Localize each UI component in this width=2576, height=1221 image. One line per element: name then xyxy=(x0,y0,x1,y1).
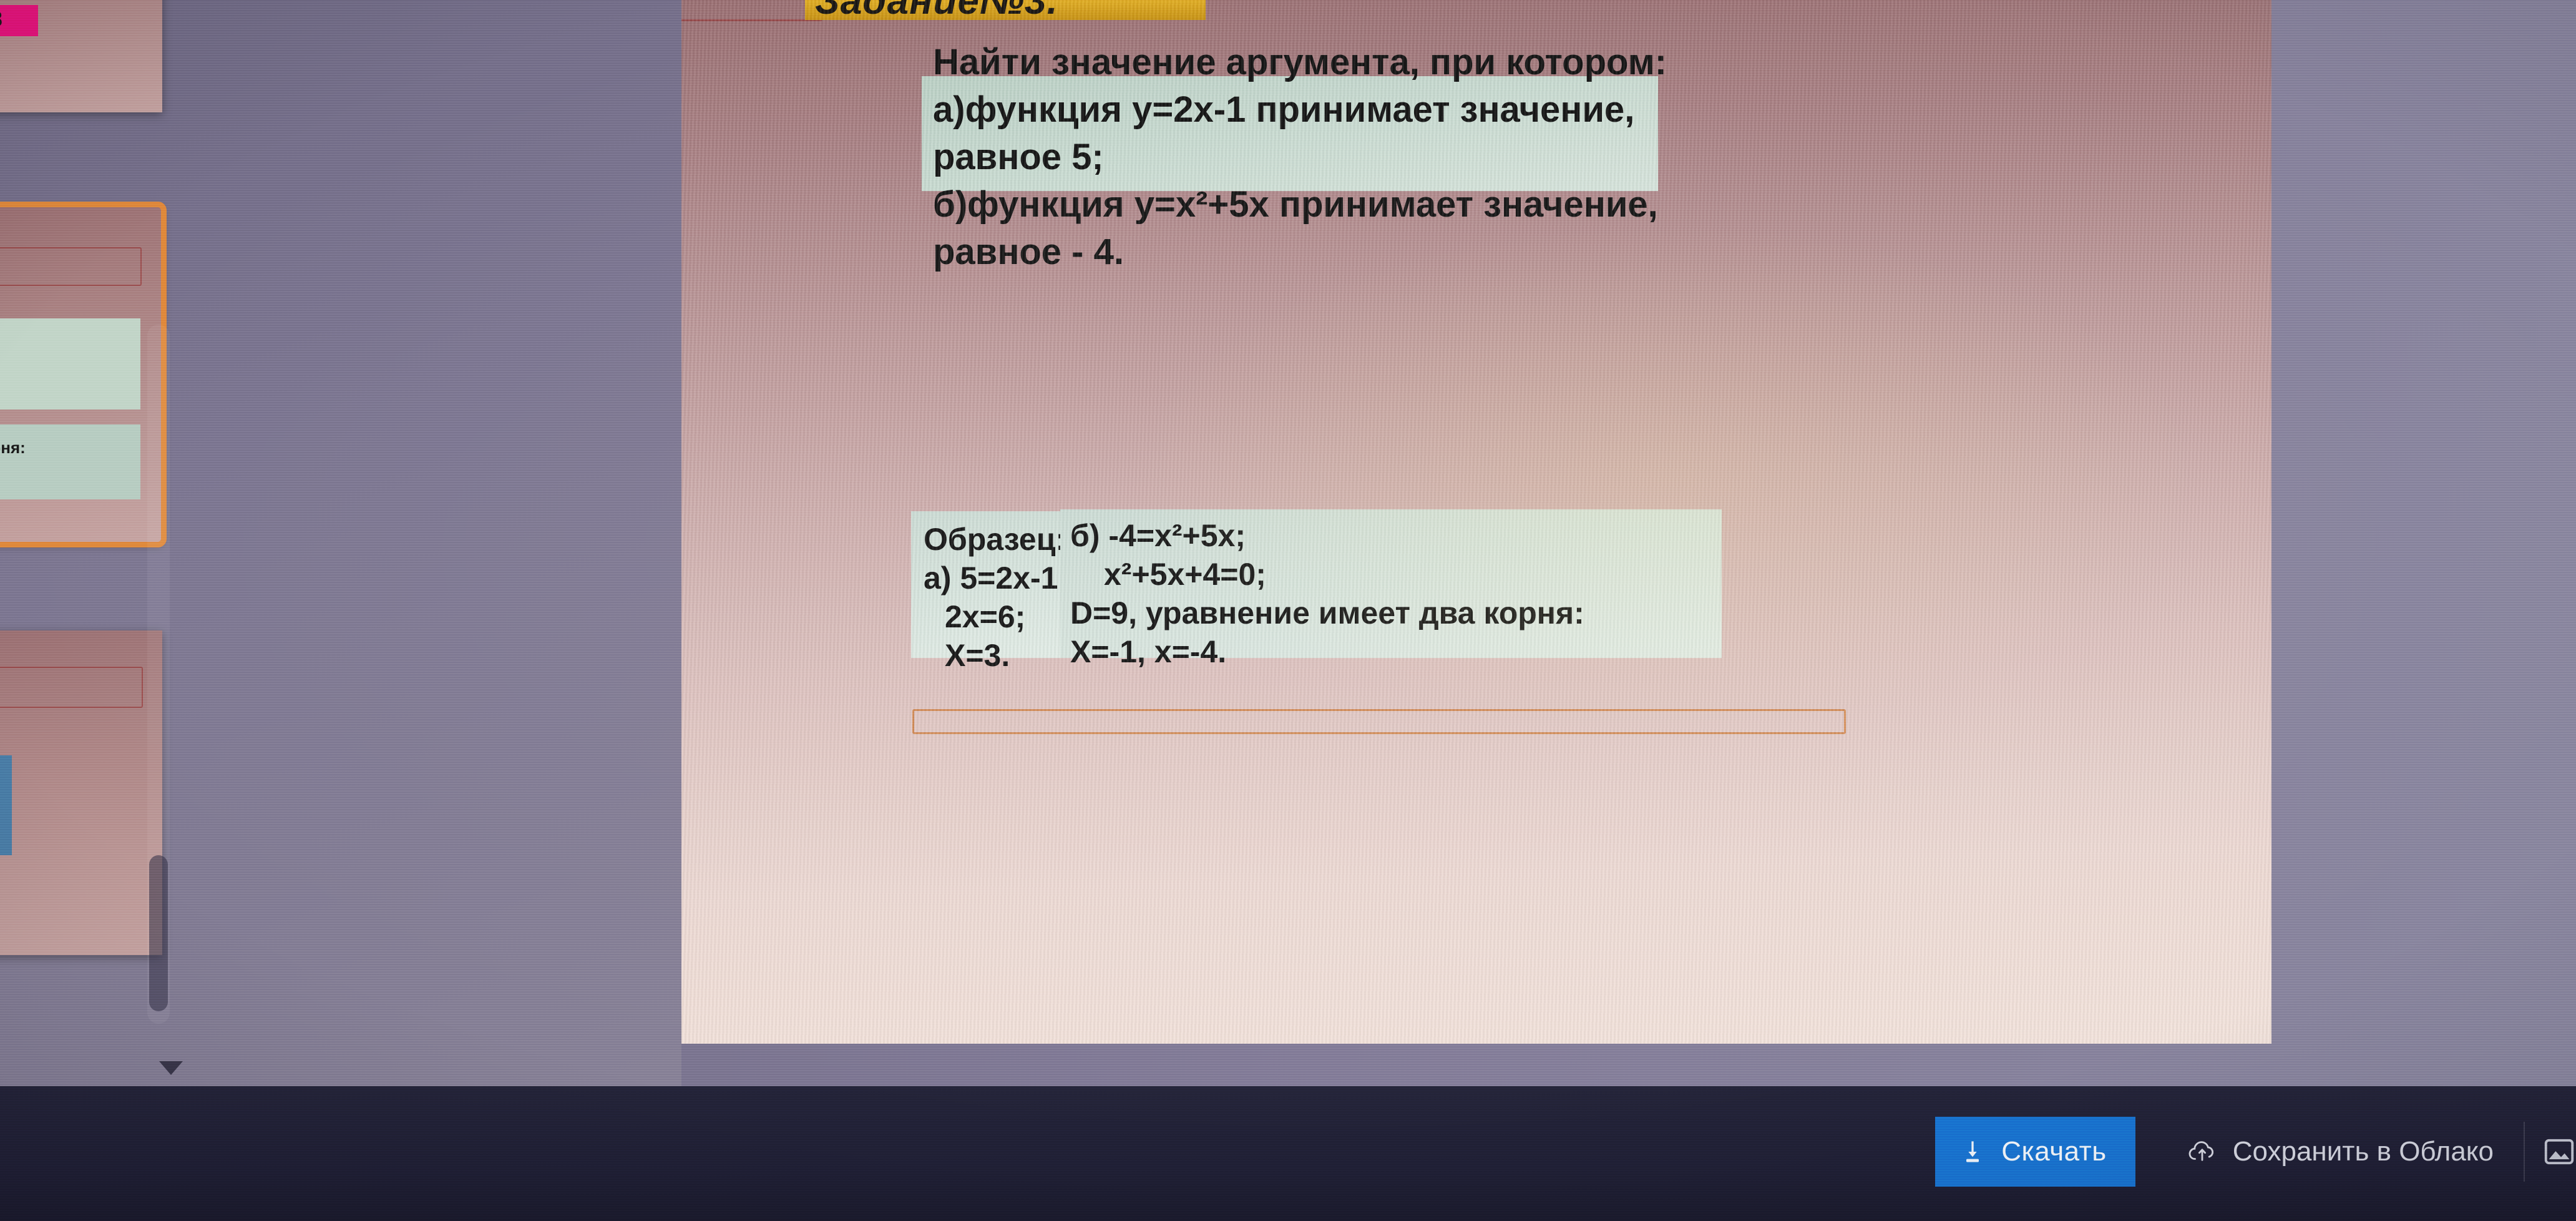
cloud-upload-icon xyxy=(2188,1138,2217,1165)
sample-right-line-3: D=9, уравнение имеет два корня: xyxy=(1070,594,1584,632)
slide-canvas[interactable]: Задание№3. Найти значение аргумента, при… xyxy=(681,0,2271,1044)
thumb2-green-chip-2 xyxy=(0,424,140,499)
task-line-2: а)функция y=2x-1 принимает значение, xyxy=(933,86,1657,134)
sample-right-line-4: X=-1, x=-4. xyxy=(1070,632,1584,671)
thumb3-title-placeholder xyxy=(0,667,143,708)
sample-right-box: б) -4=х²+5х; х²+5х+4=0; D=9, уравнение и… xyxy=(1060,509,1722,658)
image-button[interactable] xyxy=(2530,1117,2576,1187)
slide-thumbnail-2[interactable]: тором: ение, чение, два корня: xyxy=(0,206,162,543)
task-text: Найти значение аргумента, при котором: а… xyxy=(933,39,1657,276)
thumb2-title-placeholder xyxy=(0,247,142,286)
sample-left-line-1: Образец: xyxy=(924,520,1068,559)
sample-left-box: Образец: а) 5=2х-1; 2х=6; X=3. xyxy=(911,511,1063,658)
task-line-1: Найти значение аргумента, при котором: xyxy=(933,39,1657,86)
title-placeholder-frame xyxy=(681,0,822,21)
slide-title-highlight: Задание№3. xyxy=(805,0,1206,20)
image-icon xyxy=(2543,1137,2575,1167)
screen-photo: 0—68 30 тором: ение, чение, два корня: ц… xyxy=(0,0,2576,1221)
save-to-cloud-label: Сохранить в Облако xyxy=(2233,1136,2494,1167)
slide-thumbnail-rail[interactable]: 0—68 30 тором: ение, чение, два корня: ц… xyxy=(0,0,681,1086)
page-title: Задание№3. xyxy=(815,0,1058,20)
thumb2-green-chip xyxy=(0,318,140,409)
sample-left-text: Образец: а) 5=2х-1; 2х=6; X=3. xyxy=(924,520,1068,675)
sample-left-line-3: 2х=6; xyxy=(924,597,1068,636)
sample-left-line-4: X=3. xyxy=(924,636,1068,675)
task-line-3: равное 5; xyxy=(933,134,1657,181)
thumb3-blue-chip xyxy=(0,755,12,855)
slide-thumbnail-1[interactable]: 0—68 30 xyxy=(0,0,162,112)
download-button[interactable]: Скачать xyxy=(1935,1117,2135,1187)
empty-content-placeholder[interactable] xyxy=(912,709,1846,734)
thumb1-snippet-1: 0—68 xyxy=(0,7,2,32)
toolbar-divider xyxy=(2524,1122,2525,1182)
download-icon xyxy=(1960,1138,1985,1165)
task-line-5: равное - 4. xyxy=(933,228,1657,276)
save-to-cloud-button[interactable]: Сохранить в Облако xyxy=(2163,1117,2519,1187)
sample-left-line-2: а) 5=2х-1; xyxy=(924,559,1068,597)
thumb1-pink-chip xyxy=(0,5,38,36)
sample-right-line-2: х²+5х+4=0; xyxy=(1070,555,1584,594)
thumb2-snippet-4: два корня: xyxy=(0,438,26,458)
sidebar-scrollbar-thumb[interactable] xyxy=(149,855,168,1011)
download-button-label: Скачать xyxy=(2001,1136,2107,1167)
sample-right-line-1: б) -4=х²+5х; xyxy=(1070,516,1584,555)
task-text-box: Найти значение аргумента, при котором: а… xyxy=(922,76,1658,191)
task-line-4: б)функция y=x²+5x принимает значение, xyxy=(933,181,1657,228)
chevron-down-icon[interactable] xyxy=(159,1061,183,1075)
slide-thumbnail-3[interactable]: ции, xyxy=(0,630,162,955)
sample-right-text: б) -4=х²+5х; х²+5х+4=0; D=9, уравнение и… xyxy=(1070,516,1584,671)
bottom-toolbar: Скачать Сохранить в Облако xyxy=(0,1086,2576,1221)
